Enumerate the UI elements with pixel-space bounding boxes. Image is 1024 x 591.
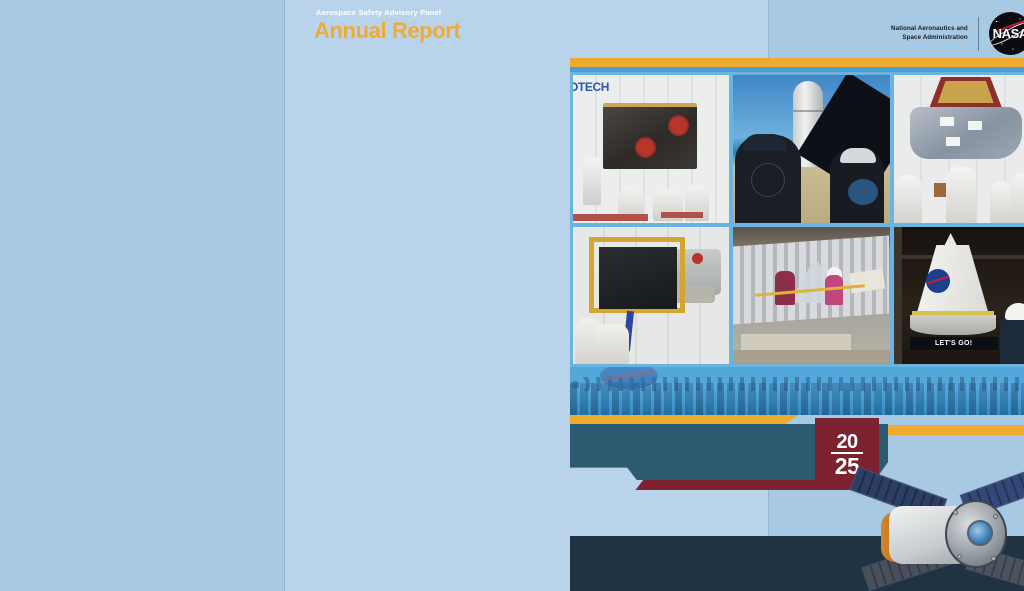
photo-2-cap-a (743, 134, 787, 151)
report-title: Annual Report (314, 18, 460, 44)
photo-4-panel-inspection (573, 227, 729, 364)
top-gold-rule (570, 58, 1024, 67)
photo-6-orion-lift: LET'S GO! (894, 227, 1024, 364)
photo-1-cleanroom-spacecraft: OTECH (573, 75, 729, 223)
photo-5-structure-workers (733, 227, 889, 364)
photo-2-rocket-spectators (733, 75, 889, 223)
nasa-org-line-2: Space Administration (891, 34, 968, 43)
nasa-meatball-icon: NASA (989, 12, 1024, 55)
nasa-org-line-1: National Aeronautics and (891, 25, 968, 34)
photo-3-technician-b (946, 167, 976, 223)
photo-3-wrapped-payload (910, 107, 1022, 159)
screenshot-root: National Aeronautics and Space Administr… (0, 0, 1024, 591)
title-gold-rule-left (570, 415, 798, 425)
photo-2-shirt-emblem-b (848, 179, 878, 205)
photo-3-tag-a (940, 117, 954, 126)
photo-5-ground (733, 350, 889, 364)
orion-thruster-b (993, 514, 998, 519)
photo-6-capsule-apex (944, 233, 958, 247)
nasa-wordmark-text: National Aeronautics and Space Administr… (891, 25, 968, 43)
orion-thruster-c (957, 554, 962, 559)
header-divider (978, 17, 979, 51)
photo-3-hoisted-spacecraft (894, 75, 1024, 223)
photo-6-banner: LET'S GO! (910, 337, 998, 350)
photo-3-technician-a (894, 175, 922, 223)
report-eyebrow: Aerospace Safety Advisory Panel (316, 8, 441, 17)
photo-5-worker-a (775, 271, 795, 305)
photo-1-floor-mat-b (661, 212, 703, 218)
year-top: 20 (815, 432, 879, 452)
photo-mosaic: OTECH (570, 72, 1024, 367)
photo-3-lift-fixture-inner (938, 81, 994, 103)
photo-3-technician-d (1010, 173, 1024, 223)
photo-4-dark-panel (599, 247, 677, 309)
crowd-blue-tint-overlay (570, 367, 1024, 415)
photo-2-cap-b (840, 148, 876, 163)
report-cover-page: National Aeronautics and Space Administr… (285, 0, 768, 591)
photo-3-technician-c (990, 181, 1012, 223)
photo-6-capsule-skirt (910, 315, 996, 335)
photo-6-worker-hard-hat (1005, 303, 1024, 320)
photo-1-floor-mat-a (573, 214, 648, 221)
photo-1-red-cover-a (668, 115, 689, 136)
photo-4-technician-b (595, 324, 629, 364)
photo-6-beam-left (894, 227, 902, 364)
photo-1-technician-a (583, 157, 601, 205)
photo-1-red-cover-b (635, 137, 656, 158)
meatball-wordmark: NASA (989, 12, 1024, 55)
photo-3-tag-c (946, 137, 960, 146)
nasa-header: National Aeronautics and Space Administr… (891, 12, 1024, 55)
photo-6-nasa-meatball-icon (926, 269, 950, 293)
orion-main-engine-nozzle (967, 520, 993, 546)
crowd-photo-band (570, 367, 1024, 415)
title-gold-rule-right (877, 425, 1024, 435)
orion-thruster-d (991, 556, 996, 561)
photo-1-spacecraft (603, 103, 697, 169)
orion-thruster-a (953, 510, 958, 515)
photo-6-banner-text: LET'S GO! (935, 340, 972, 347)
photo-3-tag-b (968, 121, 982, 130)
photo-1-overlay-text: OTECH (573, 80, 609, 94)
orion-spacecraft-illustration (841, 472, 1024, 591)
